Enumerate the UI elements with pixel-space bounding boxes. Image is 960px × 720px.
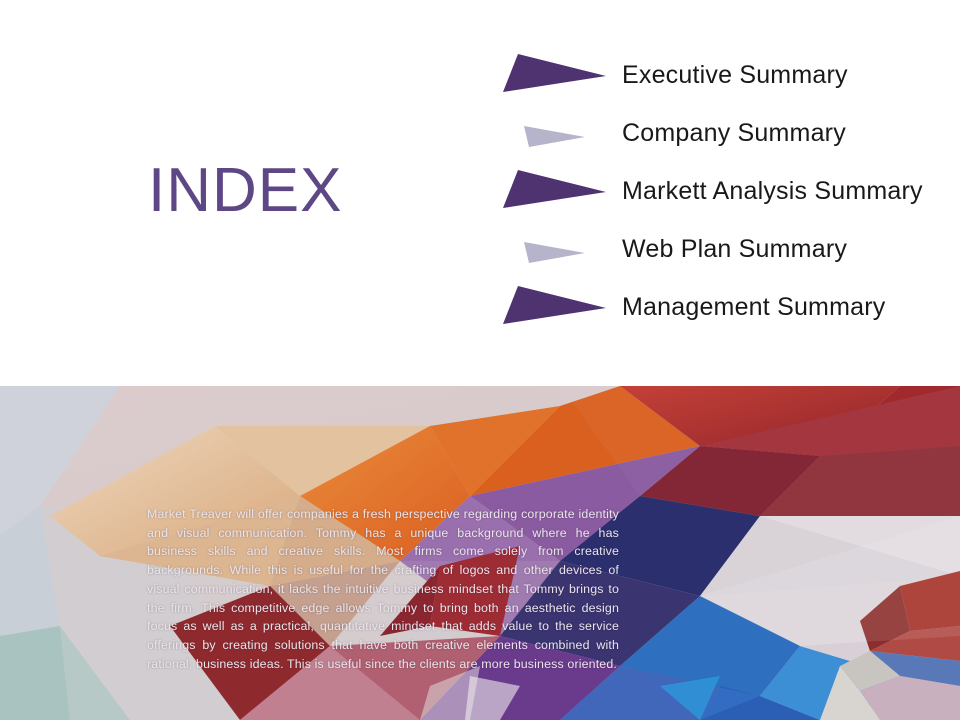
- arrow-right-icon: [496, 46, 616, 104]
- list-item-label: Company Summary: [622, 104, 846, 162]
- slide-root: INDEX Executive Summary Company Summary: [0, 0, 960, 720]
- list-item-company-summary[interactable]: Company Summary: [496, 104, 936, 162]
- list-item-management-summary[interactable]: Management Summary: [496, 278, 936, 336]
- list-item-web-plan-summary[interactable]: Web Plan Summary: [496, 220, 936, 278]
- arrow-right-icon: [496, 104, 616, 162]
- list-item-label: Web Plan Summary: [622, 220, 847, 278]
- list-item-label: Executive Summary: [622, 46, 848, 104]
- list-item-label: Management Summary: [622, 278, 885, 336]
- list-item-markett-analysis-summary[interactable]: Markett Analysis Summary: [496, 162, 936, 220]
- list-item-label: Markett Analysis Summary: [622, 162, 923, 220]
- list-item-executive-summary[interactable]: Executive Summary: [496, 46, 936, 104]
- body-paragraph: Market Treaver will offer companies a fr…: [147, 505, 619, 673]
- arrow-right-icon: [496, 278, 616, 336]
- index-list: Executive Summary Company Summary Market…: [0, 0, 960, 386]
- top-white-panel: INDEX Executive Summary Company Summary: [0, 0, 960, 386]
- arrow-right-icon: [496, 220, 616, 278]
- low-poly-background-image: Market Treaver will offer companies a fr…: [0, 386, 960, 720]
- arrow-right-icon: [496, 162, 616, 220]
